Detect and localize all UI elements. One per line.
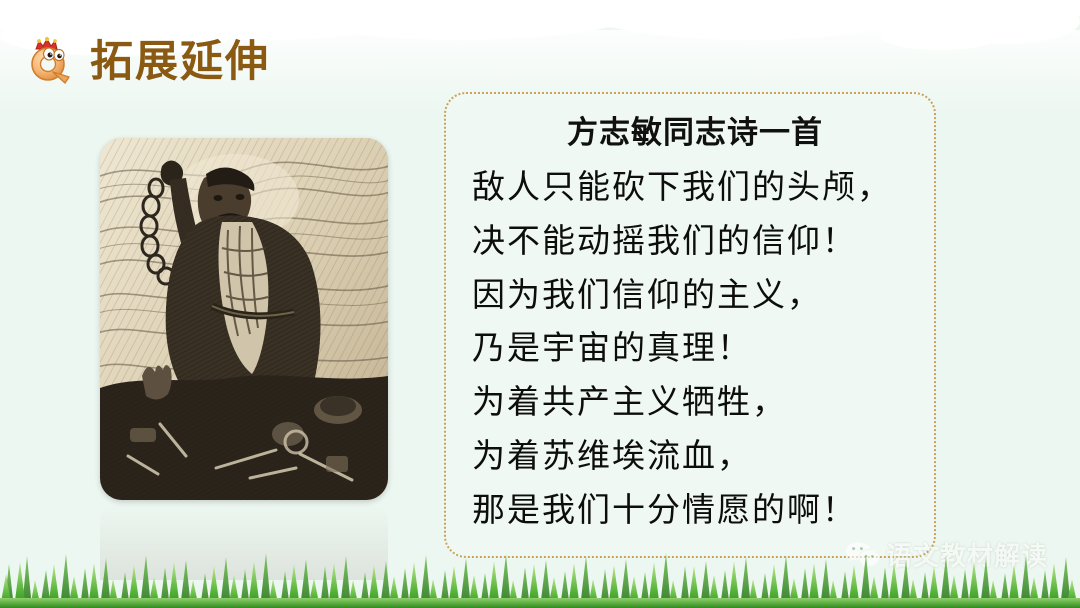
cloud-icon [250, 0, 670, 40]
section-heading-label: 拓展延伸 [90, 41, 270, 84]
q-mascot-icon [24, 36, 76, 88]
cloud-icon [840, 0, 1050, 38]
cloud-icon [930, 0, 1080, 44]
poem-title: 方志敏同志诗一首 [474, 116, 916, 150]
woodcut-illustration [100, 138, 388, 500]
illustration-container [100, 138, 388, 500]
poem-line: 敌人只能砍下我们的头颅， [472, 160, 916, 214]
cloud-icon [560, 0, 940, 40]
cloud-icon [880, 22, 1000, 50]
poem-line: 为着共产主义牺牲， [472, 375, 916, 429]
poem-panel: 方志敏同志诗一首 敌人只能砍下我们的头颅， 决不能动摇我们的信仰！ 因为我们信仰… [444, 92, 936, 558]
poem-line: 为着苏维埃流血， [472, 429, 916, 483]
grass-decoration [0, 546, 1080, 608]
poem-line: 因为我们信仰的主义， [472, 268, 916, 322]
cloud-icon [120, 0, 420, 40]
poem-line: 那是我们十分情愿的啊！ [472, 483, 916, 537]
cloud-band [0, 0, 1080, 24]
poem-line: 乃是宇宙的真理！ [472, 321, 916, 375]
slide-canvas: 拓展延伸 [0, 0, 1080, 608]
poem-lines: 敌人只能砍下我们的头颅， 决不能动摇我们的信仰！ 因为我们信仰的主义， 乃是宇宙… [460, 160, 916, 536]
section-heading: 拓展延伸 [24, 36, 270, 88]
poem-line: 决不能动摇我们的信仰！ [472, 214, 916, 268]
